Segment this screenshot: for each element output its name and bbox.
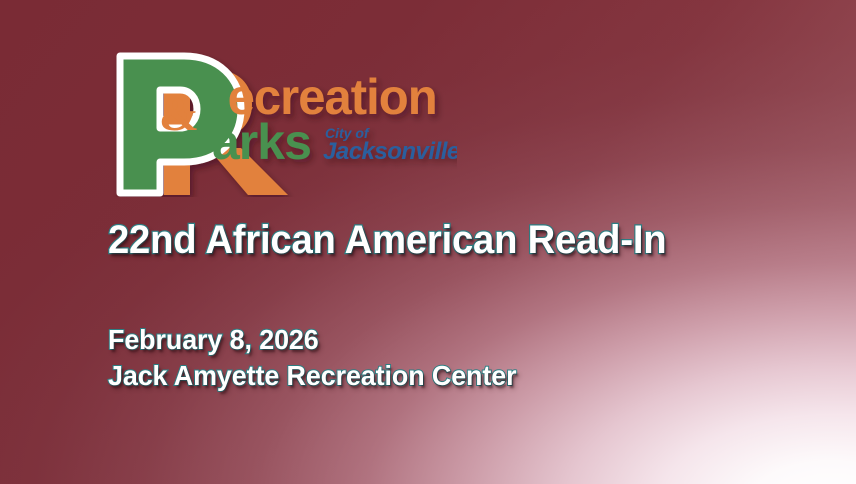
event-headline: 22nd African American Read-In [108, 218, 666, 263]
logo-artwork: & ecreation arks City of Jacksonville [112, 52, 457, 197]
recreation-and-parks-logo: & ecreation arks City of Jacksonville [112, 52, 457, 197]
event-slide: & ecreation arks City of Jacksonville 22… [0, 0, 856, 484]
logo-ampersand: & [159, 88, 199, 141]
event-venue: Jack Amyette Recreation Center [108, 358, 516, 394]
logo-jacksonville-label: Jacksonville [323, 138, 457, 165]
event-date: February 8, 2026 [108, 322, 516, 358]
logo-word-parks: arks [212, 114, 311, 170]
event-details: February 8, 2026 Jack Amyette Recreation… [108, 322, 533, 395]
